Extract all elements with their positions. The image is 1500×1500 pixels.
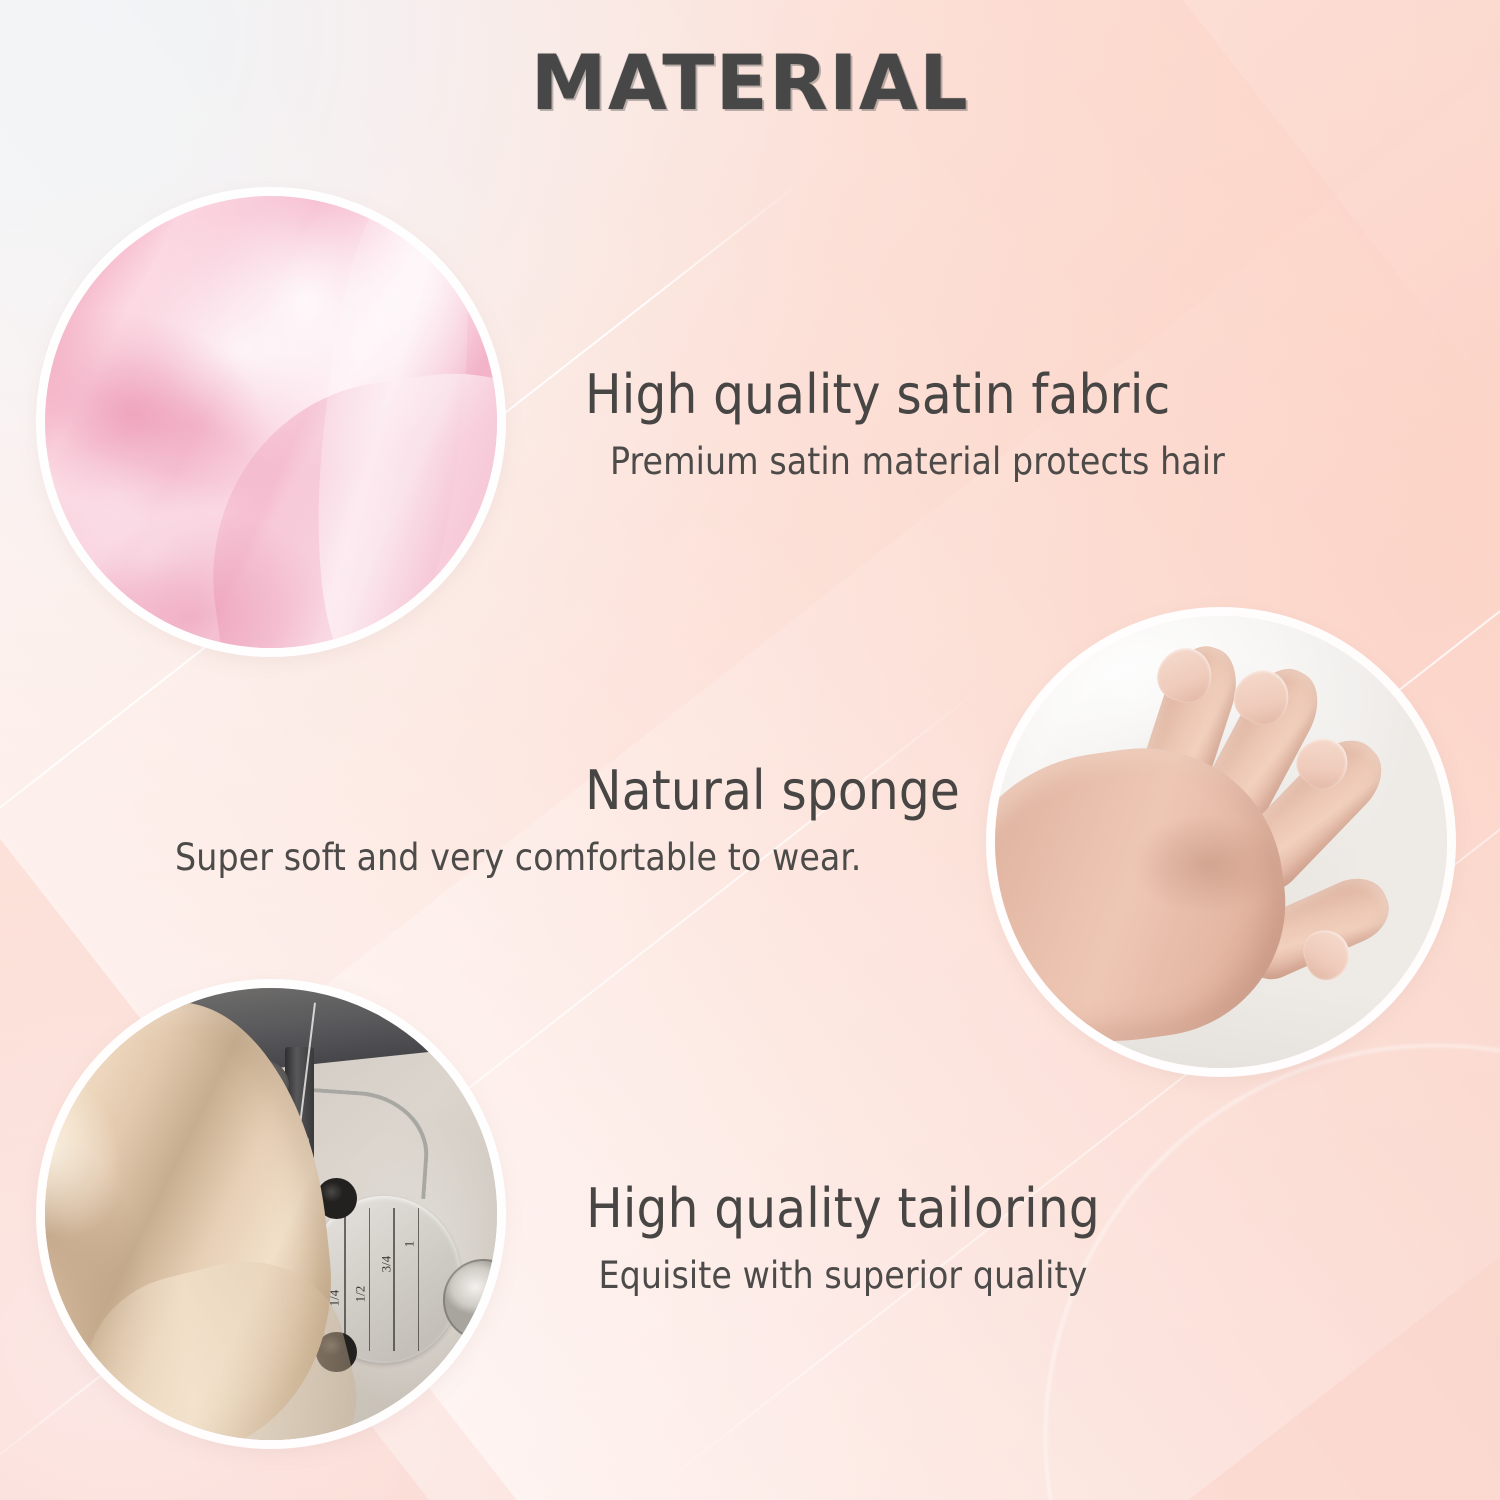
hand-illustration xyxy=(995,616,1447,1068)
feature-subheading-satin-fabric: Premium satin material protects hair xyxy=(610,440,1225,484)
guide-line xyxy=(393,1208,395,1352)
satin-fold-band xyxy=(187,349,497,648)
feature-subheading-high-quality-tailoring: Equisite with superior quality xyxy=(548,1254,1138,1298)
feature-image-high-quality-tailoring: 1/4 1/2 3/4 1 xyxy=(45,988,497,1440)
guide-line xyxy=(344,1208,346,1352)
sewing-machine-photo: 1/4 1/2 3/4 1 xyxy=(45,988,497,1440)
feature-heading-high-quality-tailoring: High quality tailoring xyxy=(548,1180,1138,1238)
feature-text-satin-fabric: High quality satin fabric Premium satin … xyxy=(585,366,1225,485)
feature-image-natural-sponge xyxy=(995,616,1447,1068)
feature-text-high-quality-tailoring: High quality tailoring Equisite with sup… xyxy=(548,1180,1138,1299)
satin-fold-band xyxy=(299,196,487,648)
pink-satin-fabric-photo xyxy=(45,196,497,648)
knuckle-shading xyxy=(1131,815,1285,914)
feature-heading-satin-fabric: High quality satin fabric xyxy=(585,366,1225,424)
guide-line xyxy=(369,1208,371,1352)
plate-marking-one: 1 xyxy=(401,1241,417,1248)
plate-marking-half: 1/2 xyxy=(352,1286,368,1303)
satin-highlight xyxy=(45,382,371,648)
guide-line xyxy=(418,1208,420,1352)
material-infographic: MATERIAL xyxy=(0,0,1500,1500)
hand-pressing-sponge-photo xyxy=(995,616,1447,1068)
satin-highlight xyxy=(87,196,497,527)
feature-text-natural-sponge: Natural sponge Super soft and very comfo… xyxy=(175,762,960,881)
satin-shadow xyxy=(45,487,344,648)
plate-marking-three-quarter: 3/4 xyxy=(378,1256,394,1273)
feature-heading-natural-sponge: Natural sponge xyxy=(175,762,960,820)
satin-shadow xyxy=(45,279,293,547)
page-title: MATERIAL xyxy=(0,38,1500,127)
feature-subheading-natural-sponge: Super soft and very comfortable to wear. xyxy=(175,836,960,880)
feature-image-satin-fabric xyxy=(45,196,497,648)
